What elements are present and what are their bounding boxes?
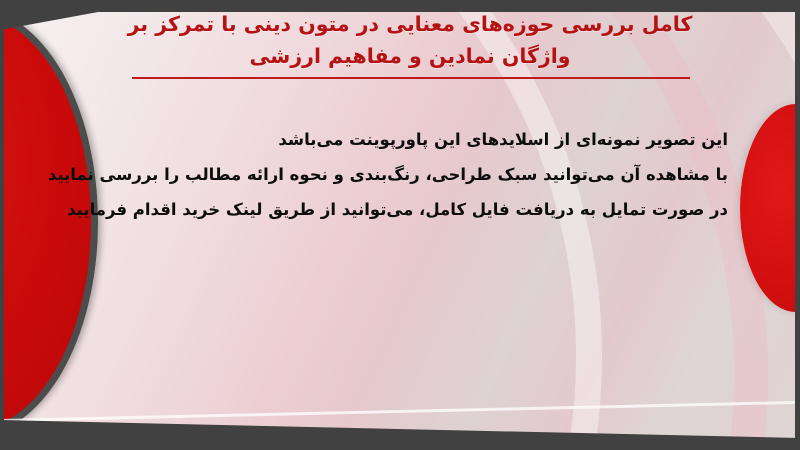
title-divider-rule [132, 77, 690, 79]
body-line-1: این تصویر نمونه‌ای از اسلایدهای این پاور… [128, 122, 728, 157]
slide-title: کامل بررسی حوزه‌های معنایی در متون دینی … [120, 8, 700, 72]
body-line-3: در صورت تمایل به دریافت فایل کامل، می‌تو… [128, 192, 728, 227]
slide-title-line-1: کامل بررسی حوزه‌های معنایی در متون دینی … [120, 8, 700, 40]
slide-title-line-2: واژگان نمادین و مفاهیم ارزشی [120, 40, 700, 72]
body-line-2: با مشاهده آن می‌توانید سبک طراحی، رنگ‌بن… [128, 157, 728, 192]
slide-body-text: این تصویر نمونه‌ای از اسلایدهای این پاور… [128, 122, 728, 227]
presentation-slide: کامل بررسی حوزه‌های معنایی در متون دینی … [0, 0, 800, 450]
frame-band-right [795, 0, 800, 450]
frame-band-left [0, 0, 4, 450]
